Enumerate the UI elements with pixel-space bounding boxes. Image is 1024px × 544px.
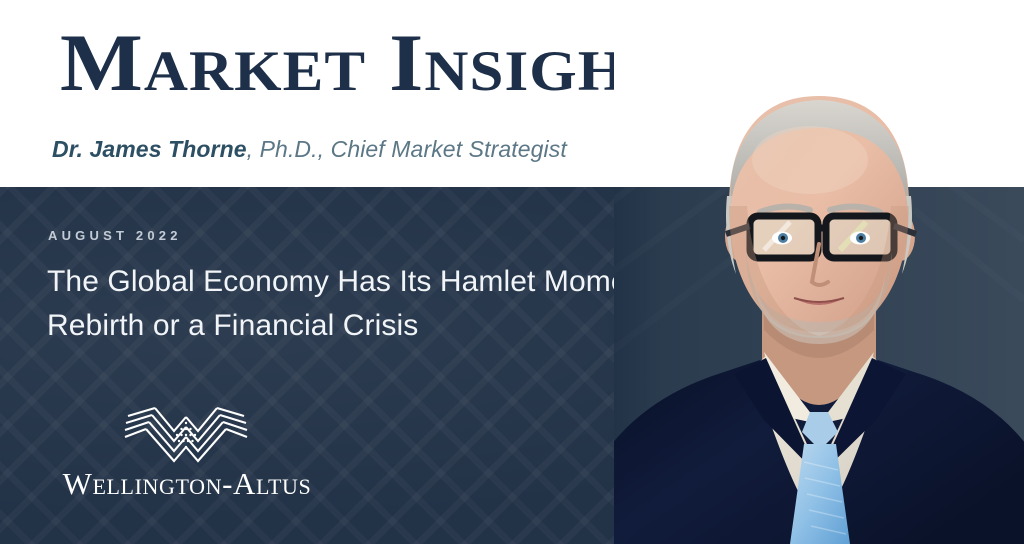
article-headline-line-1: The Global Economy Has Its Hamlet Moment…: [47, 260, 661, 304]
byline-credentials: , Ph.D., Chief Market Strategist: [247, 136, 567, 162]
article-headline-line-2: Rebirth or a Financial Crisis: [47, 304, 661, 348]
market-insights-banner: Market Insights Dr. James Thorne, Ph.D.,…: [0, 0, 1024, 544]
article-headline: The Global Economy Has Its Hamlet Moment…: [47, 260, 661, 348]
byline: Dr. James Thorne, Ph.D., Chief Market St…: [52, 136, 567, 162]
byline-name: Dr. James Thorne: [52, 136, 247, 162]
issue-date: AUGUST 2022: [48, 228, 182, 243]
wellington-altus-logo[interactable]: Wellington-Altus: [42, 396, 332, 504]
wellington-altus-wordmark: Wellington-Altus: [42, 466, 332, 502]
wellington-altus-mark-icon: [120, 396, 252, 468]
page-title: Market Insights: [60, 22, 703, 104]
portrait-photo: [614, 0, 1024, 544]
